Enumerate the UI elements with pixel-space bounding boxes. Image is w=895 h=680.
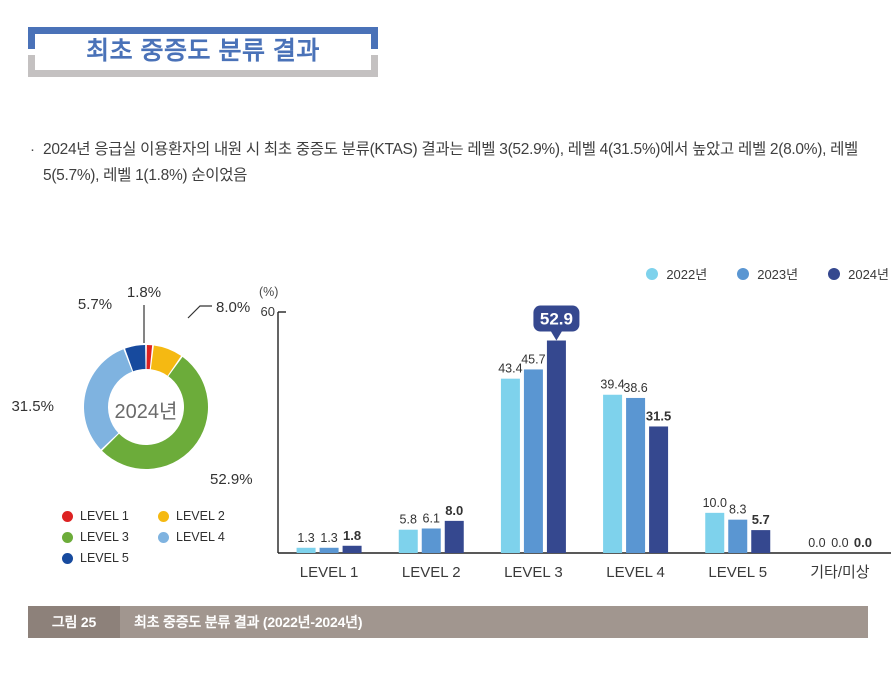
donut-legend: LEVEL 1LEVEL 2LEVEL 3LEVEL 4LEVEL 5 [62,509,262,565]
bar-level-3-2023년 [524,369,543,553]
bar-level-5-2022년 [705,513,724,553]
page-title: 최초 중증도 분류 결과 [86,39,320,66]
bar-level-4-2024년 [649,426,668,553]
bar-value-label: 5.8 [400,513,417,527]
bar-value-label: 43.4 [498,362,522,376]
donut-legend-item: LEVEL 4 [158,530,254,544]
bar-value-label: 6.1 [423,511,440,525]
legend-label: LEVEL 5 [80,551,129,565]
bar-level-3-2024년 [547,341,566,553]
bar-level-2-2022년 [399,530,418,553]
donut-label-level-2: 8.0% [216,299,250,316]
legend-color-dot [62,511,73,522]
summary-bullet: · 2024년 응급실 이용환자의 내원 시 최초 중증도 분류(KTAS) 결… [30,137,878,189]
bar-value-label: 0.0 [808,536,825,550]
donut-legend-item: LEVEL 3 [62,530,158,544]
x-axis-category-label: LEVEL 3 [504,564,563,581]
bar-value-label: 39.4 [600,378,624,392]
bar-level-1-2024년 [343,546,362,553]
bar-chart-value-labels: 1.31.31.85.86.18.043.445.739.438.631.510… [297,352,872,550]
bar-value-label: 5.7 [752,512,770,527]
donut-legend-item: LEVEL 1 [62,509,158,523]
bar-value-label: 0.0 [831,536,848,550]
legend-color-dot [158,511,169,522]
bar-value-label: 45.7 [521,352,545,366]
bullet-text: 2024년 응급실 이용환자의 내원 시 최초 중증도 분류(KTAS) 결과는… [43,137,878,189]
legend-color-dot [62,553,73,564]
bar-value-label: 8.0 [445,503,463,518]
bar-chart-category-labels: LEVEL 1LEVEL 2LEVEL 3LEVEL 4LEVEL 5기타/미상 [300,564,870,581]
donut-leader-lines [144,305,212,343]
bar-level-1-2023년 [320,548,339,553]
donut-slices [84,345,208,469]
bar-chart-highlight-callout: 52.9 [533,306,579,341]
bar-level-2-2023년 [422,528,441,553]
donut-chart-svg: 1.8%8.0%52.9%31.5%5.7% [10,275,282,525]
bar-chart-bars [297,341,771,553]
bar-chart-svg: 1.31.31.85.86.18.043.445.739.438.631.510… [255,258,895,588]
bar-level-1-2022년 [297,548,316,553]
legend-color-dot [158,532,169,543]
legend-label: LEVEL 1 [80,509,129,523]
bar-chart-axes [278,312,891,553]
bar-value-label: 1.3 [320,531,337,545]
figure-caption-title: 최초 중증도 분류 결과 (2022년-2024년) [120,606,868,638]
bar-level-5-2024년 [751,530,770,553]
donut-label-level-3: 52.9% [210,471,253,488]
legend-label: LEVEL 3 [80,530,129,544]
x-axis-category-label: LEVEL 2 [402,564,461,581]
x-axis-category-label: LEVEL 5 [708,564,767,581]
donut-leader-line [188,306,212,318]
legend-label: LEVEL 4 [176,530,225,544]
bar-level-5-2023년 [728,520,747,553]
bar-chart: 2022년2023년2024년 (%) 60 1.31.31.85.86.18.… [255,258,895,588]
bar-value-label: 1.3 [297,531,314,545]
donut-label-level-5: 5.7% [78,296,112,313]
donut-slice-level-4 [84,349,132,449]
bar-value-label: 0.0 [854,535,872,550]
bar-value-label: 1.8 [343,528,361,543]
x-axis-category-label: LEVEL 4 [606,564,665,581]
donut-legend-item: LEVEL 2 [158,509,254,523]
callout-value: 52.9 [540,310,573,329]
banner-corner-right [371,55,378,70]
donut-label-level-1: 1.8% [127,284,161,301]
bar-value-label: 31.5 [646,408,671,423]
callout-pointer [550,331,562,341]
legend-color-dot [62,532,73,543]
bar-value-label: 10.0 [703,496,727,510]
donut-label-level-4: 31.5% [11,398,54,415]
banner-corner-left [28,55,35,70]
legend-label: LEVEL 2 [176,509,225,523]
bar-level-3-2022년 [501,379,520,553]
donut-legend-item: LEVEL 5 [62,551,158,565]
bar-value-label: 38.6 [623,381,647,395]
bullet-marker: · [30,137,35,163]
bar-value-label: 8.3 [729,503,746,517]
x-axis-category-label: 기타/미상 [810,564,870,581]
bar-level-4-2023년 [626,398,645,553]
figure-caption-bar: 그림 25 최초 중증도 분류 결과 (2022년-2024년) [28,606,868,638]
bar-level-2-2024년 [445,521,464,553]
section-title-banner: 최초 중증도 분류 결과 [28,27,378,77]
bar-level-4-2022년 [603,395,622,553]
x-axis-category-label: LEVEL 1 [300,564,359,581]
figure-number: 그림 25 [28,606,120,638]
